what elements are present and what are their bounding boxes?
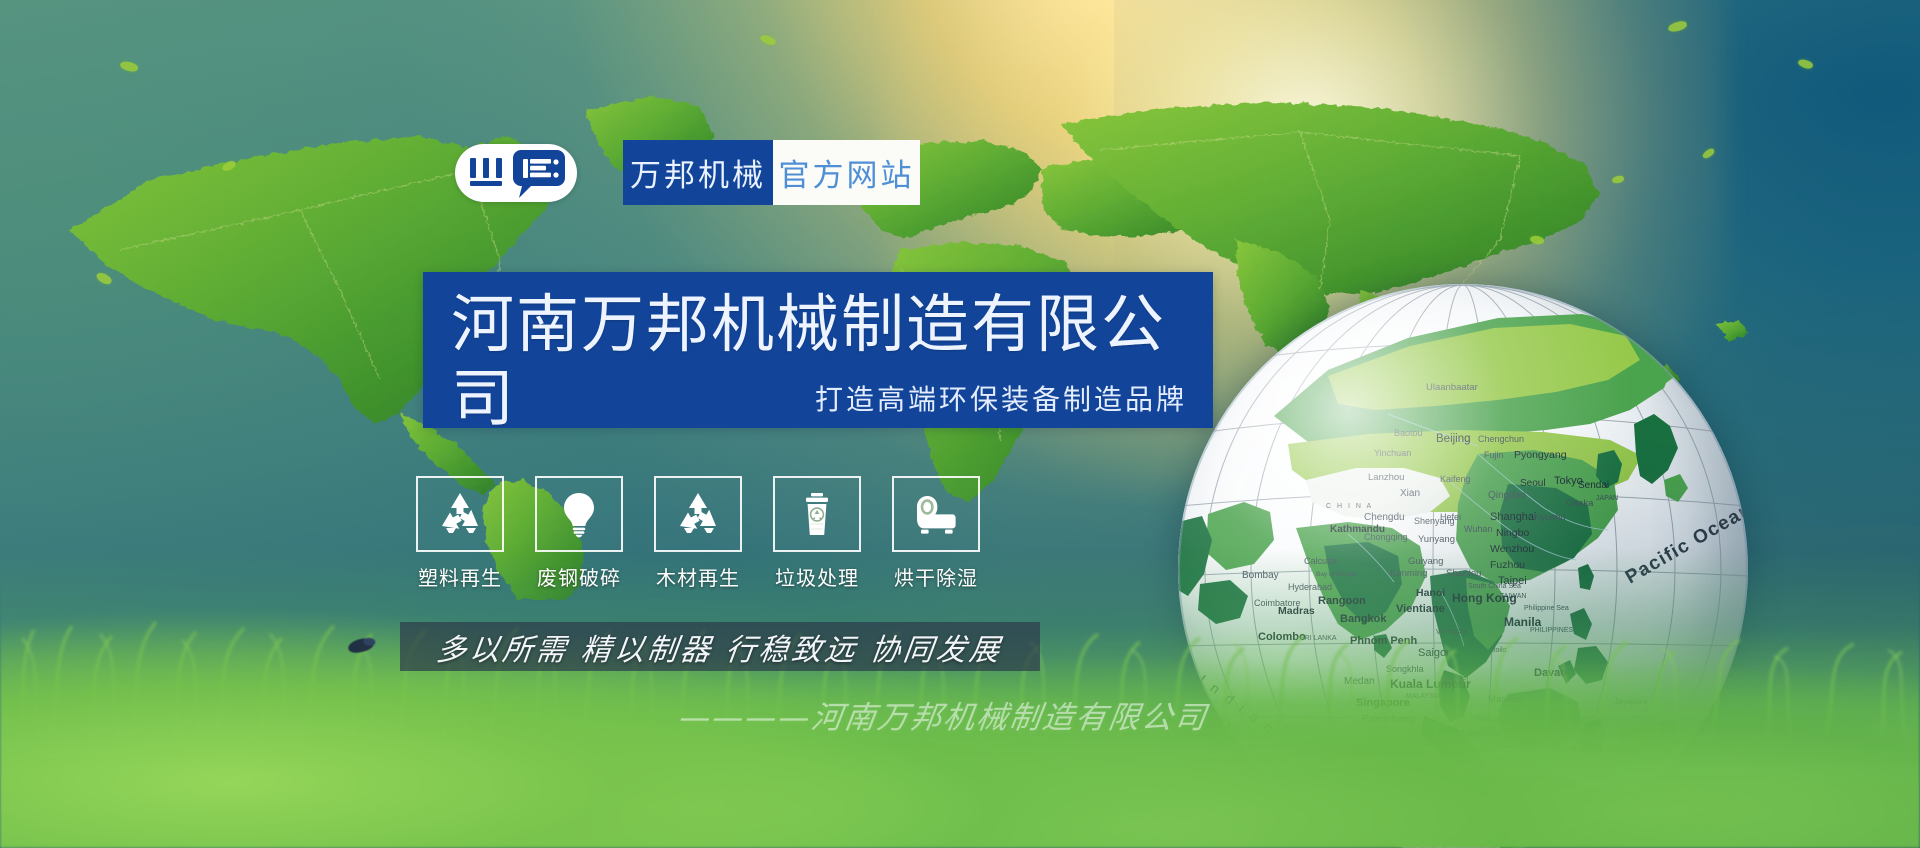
svg-text:Lanzhou: Lanzhou [1368, 472, 1404, 483]
service-icon-row: 塑料再生 废钢破碎 [418, 476, 978, 591]
svg-text:Fujin: Fujin [1484, 450, 1504, 460]
svg-text:Seoul: Seoul [1520, 478, 1546, 489]
company-tagline: 打造高端环保装备制造品牌 [815, 378, 1187, 418]
service-item-wood-recycling[interactable]: 木材再生 [656, 476, 740, 591]
service-label: 塑料再生 [418, 562, 502, 591]
svg-text:Chengdu: Chengdu [1364, 512, 1405, 523]
svg-text:JAPAN: JAPAN [1596, 495, 1618, 502]
service-icon-box [535, 476, 623, 552]
svg-text:Baotou: Baotou [1394, 428, 1423, 438]
nav-chip-brand[interactable]: 万邦机械 [623, 140, 773, 205]
title-block: 河南万邦机械制造有限公司 打造高端环保装备制造品牌 [423, 272, 1213, 428]
logo-w-icon [467, 156, 507, 190]
service-item-drying-dehumidifying[interactable]: 烘干除湿 [894, 476, 978, 591]
svg-text:Chengchun: Chengchun [1478, 434, 1524, 444]
recycle-icon [674, 490, 722, 538]
svg-text:Yunyang: Yunyang [1418, 534, 1455, 545]
svg-text:Kaifeng: Kaifeng [1440, 474, 1471, 484]
hero-banner: Ulaanbaatar Beijing Baotou Yinchuan Lanz… [0, 0, 1920, 848]
service-icon-box [654, 476, 742, 552]
svg-text:Ningbo: Ningbo [1496, 527, 1529, 539]
slogan-signature: ————河南万邦机械制造有限公司 [677, 692, 1203, 737]
svg-text:Hefei: Hefei [1440, 512, 1461, 522]
service-item-steel-crushing[interactable]: 废钢破碎 [537, 476, 621, 591]
nav-chip-official-site[interactable]: 官方网站 [773, 140, 920, 205]
nav-chip-official-site-label: 官方网站 [779, 150, 915, 195]
slogan-text: 多以所需 精以制器 行稳致远 协同发展 [434, 625, 1005, 669]
svg-text:Sendai: Sendai [1578, 480, 1609, 491]
service-item-waste-treatment[interactable]: 垃圾处理 [775, 476, 859, 591]
svg-text:C H I N A: C H I N A [1326, 503, 1373, 510]
svg-text:Yinchuan: Yinchuan [1374, 448, 1411, 458]
svg-text:Qingdao: Qingdao [1488, 490, 1526, 501]
svg-text:Osaka: Osaka [1566, 498, 1594, 509]
company-logo[interactable] [455, 144, 577, 202]
trash-bin-icon [793, 490, 841, 538]
service-icon-box [773, 476, 861, 552]
svg-text:Xian: Xian [1400, 488, 1420, 499]
slogan-bar: 多以所需 精以制器 行稳致远 协同发展 [400, 622, 1040, 671]
dryer-machine-icon [912, 490, 960, 538]
lightbulb-icon [555, 490, 603, 538]
site-header: 万邦机械 官方网站 [455, 140, 920, 205]
service-item-plastic-recycling[interactable]: 塑料再生 [418, 476, 502, 591]
nav-chip-brand-label: 万邦机械 [630, 150, 766, 195]
svg-text:Shanghai: Shanghai [1490, 511, 1537, 523]
svg-text:Kathmandu: Kathmandu [1330, 524, 1385, 535]
svg-text:Ulaanbaatar: Ulaanbaatar [1426, 382, 1478, 393]
logo-bubble-icon [511, 148, 565, 198]
service-label: 烘干除湿 [894, 562, 978, 591]
service-label: 木材再生 [656, 562, 740, 591]
service-label: 废钢破碎 [537, 562, 621, 591]
svg-text:Pyongyang: Pyongyang [1514, 449, 1567, 461]
service-icon-box [416, 476, 504, 552]
service-icon-box [892, 476, 980, 552]
recycle-icon [436, 490, 484, 538]
svg-text:Wuhan: Wuhan [1464, 524, 1492, 534]
svg-text:Beijing: Beijing [1436, 433, 1471, 445]
service-label: 垃圾处理 [775, 562, 859, 591]
svg-text:Kyushu: Kyushu [1534, 512, 1566, 523]
